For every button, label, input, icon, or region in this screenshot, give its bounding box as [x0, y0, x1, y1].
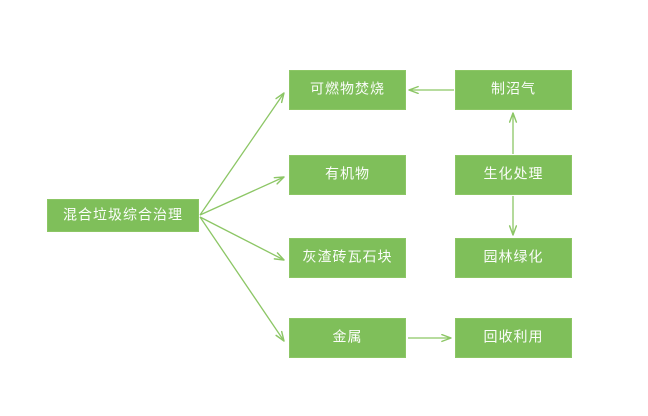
node-landscaping[interactable]: 园林绿化 [455, 238, 572, 278]
node-organic-matter-label: 有机物 [325, 168, 370, 182]
node-source[interactable]: 混合垃圾综合治理 [47, 199, 199, 232]
node-biogas[interactable]: 制沼气 [455, 70, 572, 110]
node-biochemical-treatment[interactable]: 生化处理 [455, 155, 572, 195]
flowchart-canvas: 混合垃圾综合治理 可燃物焚烧 制沼气 有机物 生化处理 灰渣砖瓦石块 园林绿化 … [0, 0, 648, 416]
edge-source-to-ash-brick-tile-stone [200, 217, 284, 260]
node-recycling-reuse[interactable]: 回收利用 [455, 318, 572, 358]
node-biochemical-treatment-label: 生化处理 [484, 168, 544, 182]
node-metal-label: 金属 [333, 331, 363, 345]
node-biogas-label: 制沼气 [491, 83, 536, 97]
node-metal[interactable]: 金属 [289, 318, 406, 358]
node-landscaping-label: 园林绿化 [484, 251, 544, 265]
node-recycling-reuse-label: 回收利用 [484, 331, 544, 345]
edge-source-to-metal [200, 217, 284, 341]
node-source-label: 混合垃圾综合治理 [63, 208, 183, 222]
node-combustible-incineration-label: 可燃物焚烧 [310, 83, 385, 97]
node-ash-brick-tile-stone[interactable]: 灰渣砖瓦石块 [289, 238, 406, 278]
node-organic-matter[interactable]: 有机物 [289, 155, 406, 195]
node-combustible-incineration[interactable]: 可燃物焚烧 [289, 70, 406, 110]
node-ash-brick-tile-stone-label: 灰渣砖瓦石块 [303, 251, 393, 265]
